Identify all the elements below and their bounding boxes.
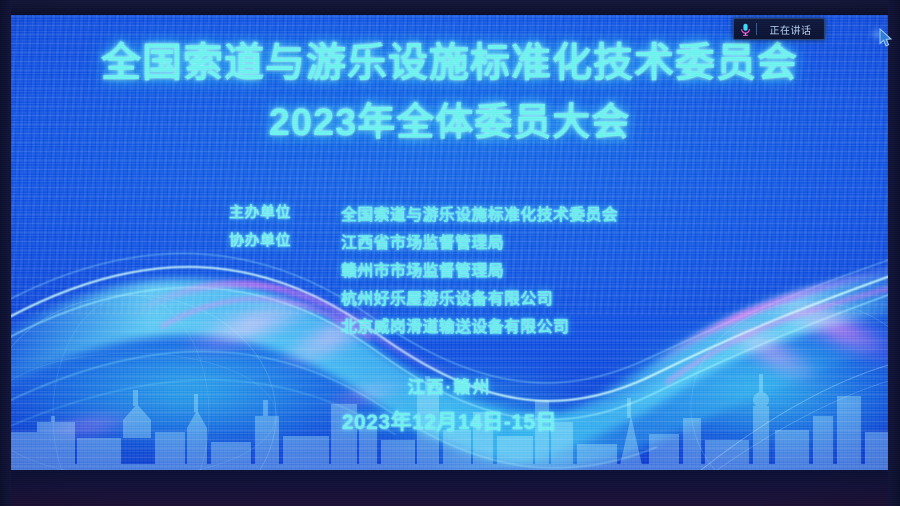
screen-bezel-bottom (0, 470, 900, 506)
organizer-label: 主办单位 (229, 201, 341, 222)
organizer-row: 北京威岗滑道输送设备有限公司 (229, 313, 618, 338)
organizer-value: 赣州市市场监督管理局 (341, 257, 504, 281)
organizer-row: 主办单位 全国索道与游乐设施标准化技术委员会 (229, 201, 618, 226)
led-screen-panel: 全国索道与游乐设施标准化技术委员会 2023年全体委员大会 主办单位 全国索道与… (11, 15, 888, 470)
conference-title-line2: 2023年全体委员大会 (11, 91, 888, 146)
led-screen-photo: 全国索道与游乐设施标准化技术委员会 2023年全体委员大会 主办单位 全国索道与… (0, 0, 900, 506)
conference-title-line1: 全国索道与游乐设施标准化技术委员会 (11, 41, 888, 86)
microphone-icon (734, 23, 756, 36)
screen-bezel-left (0, 0, 11, 506)
speaking-status-badge[interactable]: 正在讲话 (733, 18, 825, 40)
organizer-value: 北京威岗滑道输送设备有限公司 (341, 313, 569, 337)
organizer-value: 江西省市场监督管理局 (341, 229, 504, 253)
organizer-row: 杭州好乐屋游乐设备有限公司 (229, 285, 618, 310)
mouse-pointer-icon (879, 28, 893, 53)
organizer-row: 协办单位 江西省市场监督管理局 (229, 229, 618, 254)
screen-bezel-right (888, 0, 900, 506)
organizer-list: 主办单位 全国索道与游乐设施标准化技术委员会 协办单位 江西省市场监督管理局 赣… (229, 201, 618, 338)
event-footer: 江西·赣州 2023年12月14日-15日 (11, 373, 888, 436)
organizer-value: 全国索道与游乐设施标准化技术委员会 (341, 201, 618, 225)
conference-title-block: 全国索道与游乐设施标准化技术委员会 2023年全体委员大会 (11, 41, 888, 146)
organizer-row: 赣州市市场监督管理局 (229, 257, 618, 282)
screen-content: 全国索道与游乐设施标准化技术委员会 2023年全体委员大会 主办单位 全国索道与… (11, 15, 888, 470)
organizer-label: 协办单位 (229, 229, 341, 250)
organizer-value: 杭州好乐屋游乐设备有限公司 (341, 285, 553, 309)
event-date: 2023年12月14日-15日 (11, 406, 888, 436)
event-location: 江西·赣州 (11, 373, 888, 398)
speaking-status-label: 正在讲话 (757, 22, 824, 37)
screen-bezel-top (0, 0, 900, 15)
